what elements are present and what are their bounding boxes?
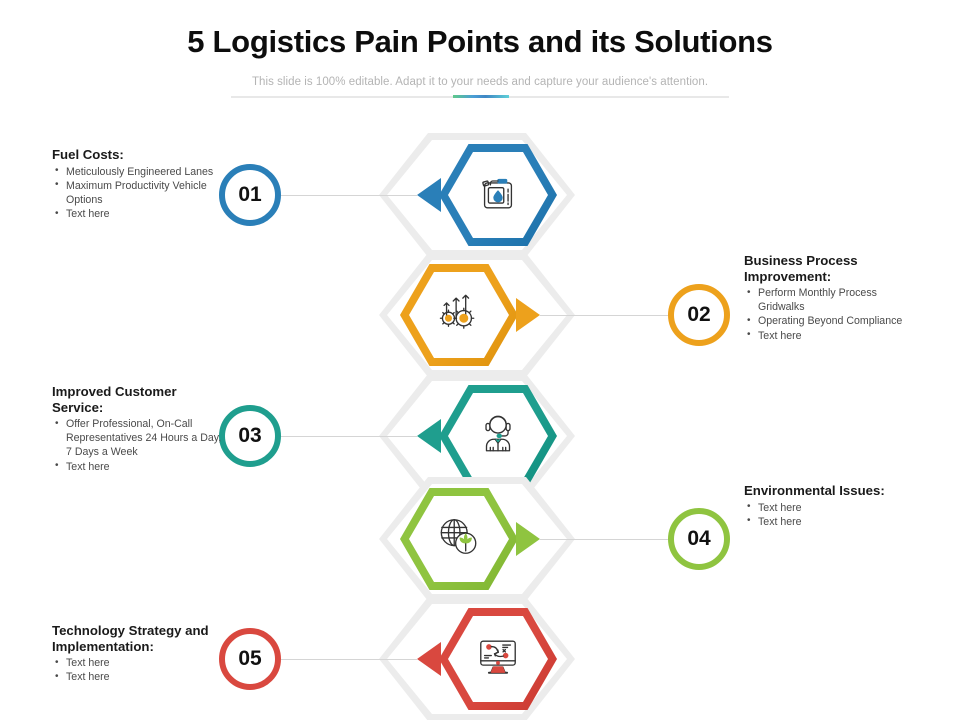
step-bullet: Text here [52, 207, 222, 221]
hexagon-pointer [516, 522, 540, 556]
step-bullet: Offer Professional, On-Call Representati… [52, 417, 222, 460]
monitor-strategy-icon [474, 635, 522, 684]
step-row: 01 Fuel Costs: Meticulously Engineered L… [0, 133, 960, 257]
step-bullet: Text here [52, 460, 222, 474]
step-bullet: Text here [52, 670, 222, 684]
hexagon-pointer [417, 419, 441, 453]
step-number: 05 [238, 647, 261, 671]
growth-gears-icon [436, 291, 482, 340]
page-subtitle: This slide is 100% editable. Adapt it to… [0, 76, 960, 88]
step-heading: Environmental Issues: [744, 483, 914, 499]
hexagon-pointer [417, 178, 441, 212]
title-divider-accent [453, 95, 509, 98]
step-bullet-list: Text hereText here [52, 656, 222, 684]
globe-leaf-icon [435, 515, 483, 564]
step-number-circle-03[interactable]: 03 [219, 405, 281, 467]
step-text-block: Environmental Issues: Text hereText here [744, 483, 914, 529]
step-text-block: Business Process Improvement: Perform Mo… [744, 253, 914, 343]
connector-line [281, 436, 417, 437]
step-number: 02 [687, 303, 710, 327]
step-bullet: Text here [52, 656, 222, 670]
step-number-circle-02[interactable]: 02 [668, 284, 730, 346]
step-row: 05 Technology Strategy and Implementatio… [0, 597, 960, 720]
step-text-block: Improved Customer Service: Offer Profess… [52, 384, 222, 474]
step-number-circle-04[interactable]: 04 [668, 508, 730, 570]
step-row: 04 Environmental Issues: Text hereText h… [0, 477, 960, 601]
step-bullet: Text here [744, 501, 914, 515]
step-heading: Business Process Improvement: [744, 253, 914, 284]
step-number: 03 [238, 424, 261, 448]
step-number: 01 [238, 183, 261, 207]
step-number: 04 [687, 527, 710, 551]
connector-line [540, 539, 668, 540]
step-bullet: Perform Monthly Process Gridwalks [744, 286, 914, 314]
headset-agent-icon [475, 411, 521, 462]
hexagon-pointer [516, 298, 540, 332]
step-number-circle-01[interactable]: 01 [219, 164, 281, 226]
hexagon-pointer [417, 642, 441, 676]
step-heading: Improved Customer Service: [52, 384, 222, 415]
step-number-circle-05[interactable]: 05 [219, 628, 281, 690]
step-bullet: Meticulously Engineered Lanes [52, 165, 222, 179]
step-bullet-list: Offer Professional, On-Call Representati… [52, 417, 222, 474]
step-bullet-list: Text hereText here [744, 501, 914, 529]
step-bullet: Text here [744, 515, 914, 529]
step-row: 02 Business Process Improvement: Perform… [0, 253, 960, 377]
slide-canvas: 5 Logistics Pain Points and its Solution… [0, 0, 960, 720]
step-text-block: Fuel Costs: Meticulously Engineered Lane… [52, 147, 222, 221]
step-bullet: Text here [744, 329, 914, 343]
page-title: 5 Logistics Pain Points and its Solution… [0, 24, 960, 60]
step-heading: Fuel Costs: [52, 147, 222, 163]
step-bullet-list: Perform Monthly Process GridwalksOperati… [744, 286, 914, 343]
connector-line [540, 315, 668, 316]
step-bullet: Operating Beyond Compliance [744, 314, 914, 328]
step-heading: Technology Strategy and Implementation: [52, 623, 222, 654]
step-bullet: Maximum Productivity Vehicle Options [52, 179, 222, 207]
connector-line [281, 195, 417, 196]
connector-line [281, 659, 417, 660]
fuel-can-icon [475, 170, 521, 221]
step-bullet-list: Meticulously Engineered LanesMaximum Pro… [52, 165, 222, 222]
step-text-block: Technology Strategy and Implementation: … [52, 623, 222, 684]
